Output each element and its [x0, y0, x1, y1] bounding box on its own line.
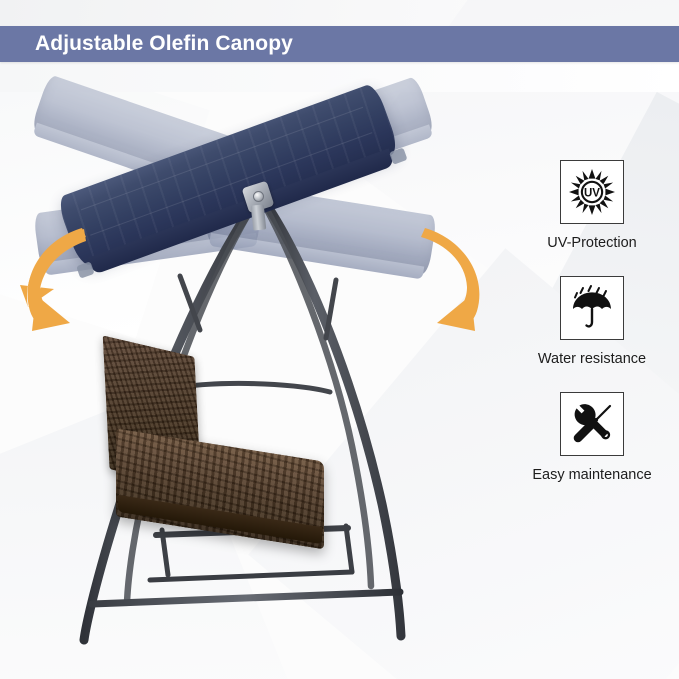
- umbrella-canopy-shape: [573, 292, 611, 309]
- rotate-right-arrow-head: [437, 295, 475, 331]
- rotate-left-arrow-head: [32, 295, 70, 331]
- seat-support-right: [346, 526, 352, 572]
- uv-sun-icon: UV: [569, 169, 615, 215]
- pivot-bolt-icon: [253, 191, 264, 202]
- feature-label-easy-maintenance: Easy maintenance: [532, 467, 651, 483]
- feature-icon-frame: [560, 276, 624, 340]
- seat-bottom-frame: [150, 572, 352, 580]
- frame-bottom-rail: [92, 592, 400, 604]
- page-title: Adjustable Olefin Canopy: [35, 32, 293, 56]
- rotate-right-arrow: [405, 223, 489, 333]
- feature-item-easy-maintenance: Easy maintenance: [505, 392, 679, 483]
- product-infographic: Adjustable Olefin Canopy: [0, 0, 679, 679]
- feature-label-uv-protection: UV-Protection: [547, 235, 636, 251]
- uv-icon-label: UV: [584, 188, 600, 200]
- feature-item-uv-protection: UV UV-Protection: [505, 160, 679, 251]
- umbrella-handle-shape: [587, 309, 593, 326]
- feature-icon-frame: UV: [560, 160, 624, 224]
- header-bar: Adjustable Olefin Canopy: [0, 26, 679, 62]
- wrench-screwdriver-icon: [569, 401, 615, 447]
- swing-seat: [98, 345, 338, 535]
- feature-list: UV UV-Protection: [505, 160, 679, 508]
- rotate-left-arrow: [18, 223, 102, 333]
- feature-icon-frame: [560, 392, 624, 456]
- umbrella-rain-icon: [569, 285, 615, 331]
- feature-item-water-resistance: Water resistance: [505, 276, 679, 367]
- product-stage: [0, 80, 505, 679]
- pivot-post: [251, 204, 267, 230]
- canopy-pivot-bracket: [241, 184, 275, 230]
- background-top-strip: [0, 0, 679, 26]
- feature-label-water-resistance: Water resistance: [538, 351, 646, 367]
